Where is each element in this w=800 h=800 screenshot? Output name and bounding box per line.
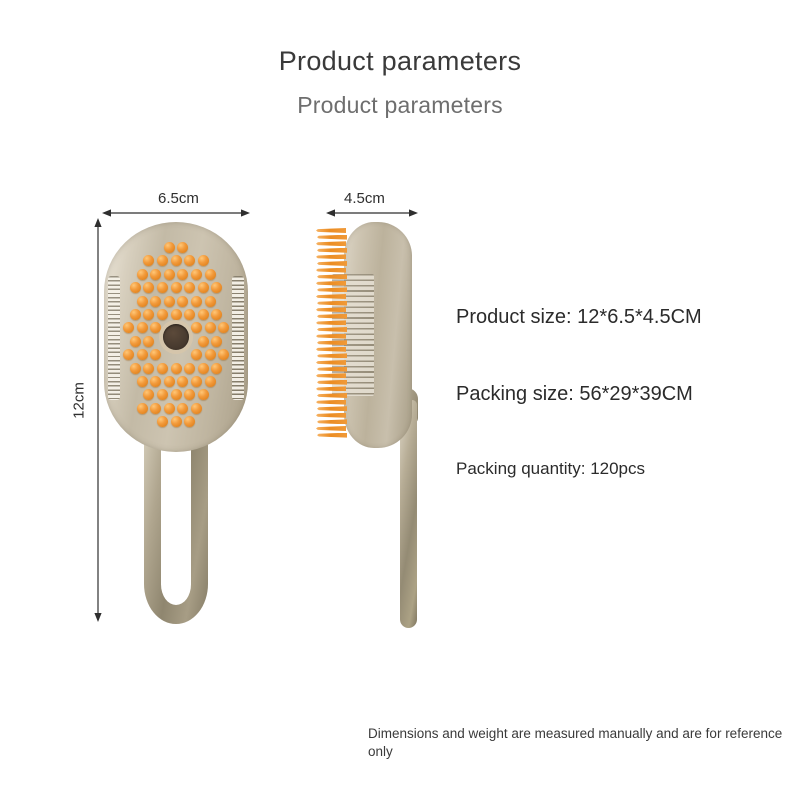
dimension-arrow-width-side	[324, 204, 420, 222]
handle-inner-cutout	[161, 438, 191, 605]
product-parameters-page: Product parameters Product parameters 6.…	[0, 0, 800, 800]
page-subtitle: Product parameters	[0, 92, 800, 119]
product-front-view	[104, 222, 248, 452]
footer-disclaimer: Dimensions and weight are measured manua…	[368, 725, 788, 761]
dimension-arrow-width-front	[100, 204, 252, 222]
comb-teeth-left	[108, 276, 120, 400]
product-handle-loop-front	[144, 444, 208, 624]
comb-teeth-right	[232, 276, 244, 400]
product-side-view	[316, 222, 412, 448]
bristles-side	[316, 228, 348, 442]
spec-product-size: Product size: 12*6.5*4.5CM	[456, 306, 702, 329]
spec-packing-size: Packing size: 56*29*39CM	[456, 383, 693, 406]
page-title: Product parameters	[0, 46, 800, 77]
spec-packing-quantity: Packing quantity: 120pcs	[456, 459, 645, 479]
center-hole	[163, 324, 189, 350]
dimension-label-height-front: 12cm	[71, 379, 88, 423]
